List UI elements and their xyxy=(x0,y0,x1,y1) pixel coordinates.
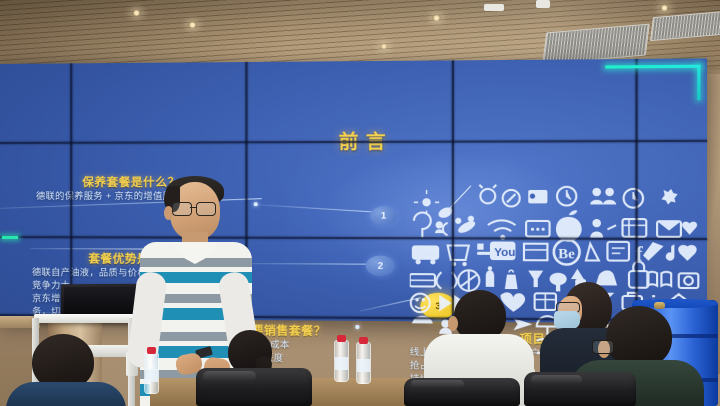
laptop-screen xyxy=(64,287,141,315)
slide-marker-2[interactable]: 2 xyxy=(366,255,395,276)
led-edge-strip-right xyxy=(697,65,700,101)
downlight-icon xyxy=(432,15,441,21)
glasses-icon xyxy=(172,202,218,215)
attendee-head xyxy=(606,306,672,368)
downlight-icon xyxy=(660,5,669,11)
bottle-cap xyxy=(147,347,156,354)
bottle-cap xyxy=(359,337,368,344)
water-bottle[interactable] xyxy=(144,352,159,394)
slide-marker-1-label: 1 xyxy=(381,210,387,221)
attendee-foreground-left xyxy=(6,334,126,406)
water-bottle[interactable] xyxy=(356,342,371,384)
downlight-icon xyxy=(188,22,197,28)
led-indicator-left xyxy=(2,236,18,239)
audience-chair[interactable] xyxy=(524,372,636,406)
video-wall-bezel-vertical xyxy=(452,60,454,321)
svg-text:You: You xyxy=(494,247,515,259)
presentation-room-scene: 前言 1 2 3 保养套餐是什么？ 德联的保 xyxy=(0,0,720,406)
bottle-label xyxy=(145,369,158,382)
connector-line-2b xyxy=(247,263,380,265)
audience-chair[interactable] xyxy=(196,368,312,406)
chair-highlight xyxy=(531,375,583,384)
glasses-icon xyxy=(592,340,614,354)
bottle-label xyxy=(335,357,348,370)
ceiling-sensor-icon xyxy=(484,4,504,11)
water-bottle[interactable] xyxy=(334,340,349,382)
ceiling-sensor-icon xyxy=(536,0,550,8)
connector-line-1b xyxy=(258,204,380,213)
video-wall-bezel-vertical xyxy=(70,63,72,318)
bottle-cap xyxy=(337,335,346,342)
svg-text:Be: Be xyxy=(558,247,575,263)
slide-marker-2-label: 2 xyxy=(378,260,384,271)
attendee-shoulders xyxy=(6,382,126,406)
chair-highlight xyxy=(203,371,256,381)
chair-highlight xyxy=(411,380,464,387)
glasses-lens-right xyxy=(196,202,216,216)
downlight-icon xyxy=(380,44,388,49)
audience-chair[interactable] xyxy=(404,378,520,406)
bottle-label xyxy=(357,359,370,372)
slide-marker-1[interactable]: 1 xyxy=(370,206,397,225)
connector-dot-3 xyxy=(355,325,359,329)
downlight-icon xyxy=(132,10,141,16)
attendee-ear xyxy=(448,316,458,331)
glasses-lens-left xyxy=(172,202,192,216)
